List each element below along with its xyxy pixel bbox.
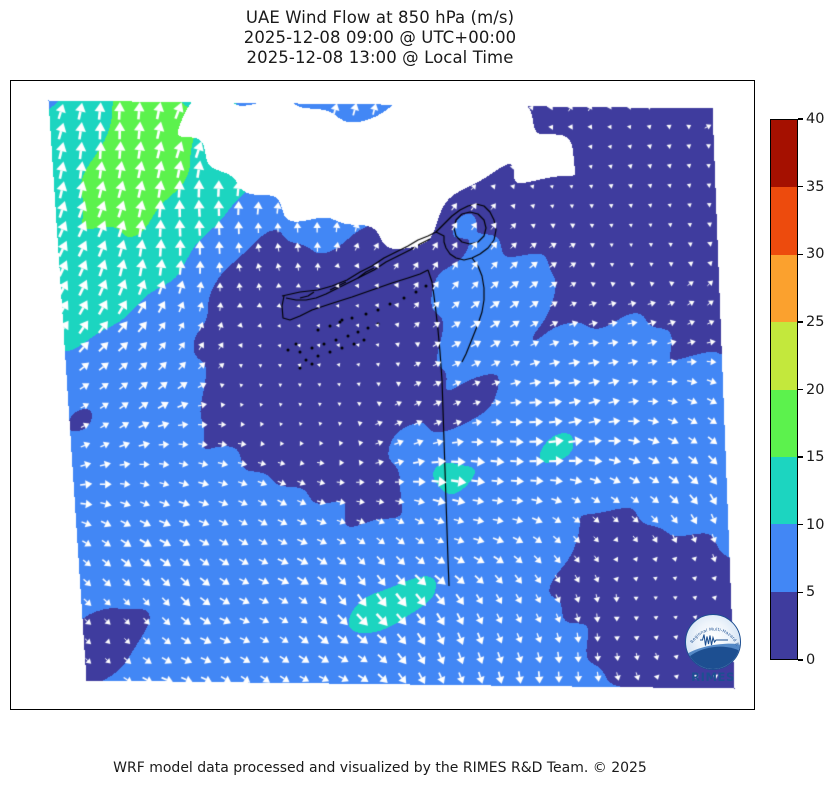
tick-mark: [798, 592, 803, 593]
tick-mark: [798, 186, 803, 187]
tick-mark: [798, 389, 803, 390]
footer-credit: WRF model data processed and visualized …: [0, 760, 760, 776]
colorbar-band-30-35: [771, 187, 797, 254]
title-line-1: UAE Wind Flow at 850 hPa (m/s): [0, 8, 760, 28]
title-line-3: 2025-12-08 13:00 @ Local Time: [0, 48, 760, 68]
tick-mark: [798, 659, 803, 660]
tick-mark: [798, 321, 803, 322]
tick-mark: [798, 524, 803, 525]
tick-mark: [798, 118, 803, 119]
wind-field-map: [11, 81, 754, 709]
tick-label: 25: [806, 313, 824, 331]
tick-label: 30: [806, 245, 824, 263]
tick-label: 10: [806, 516, 824, 534]
colorbar-tick-axis: 0510152025303540: [798, 119, 835, 660]
colorbar-band-15-20: [771, 390, 797, 457]
colorbar-band-10-15: [771, 457, 797, 524]
colorbar-band-20-25: [771, 322, 797, 389]
tick-label: 40: [806, 110, 824, 128]
tick-label: 20: [806, 381, 824, 399]
tick-label: 5: [806, 583, 815, 601]
map-plot-frame: Regional Multi-Hazard Early Warning RIME…: [10, 80, 755, 710]
tick-mark: [798, 456, 803, 457]
colorbar-band-0-5: [771, 592, 797, 659]
tick-label: 15: [806, 448, 824, 466]
tick-label: 0: [806, 651, 815, 669]
colorbar-band-5-10: [771, 524, 797, 591]
title-line-2: 2025-12-08 09:00 @ UTC+00:00: [0, 28, 760, 48]
tick-mark: [798, 254, 803, 255]
colorbar-band-35-40: [771, 120, 797, 187]
colorbar-band-25-30: [771, 255, 797, 322]
tick-label: 35: [806, 178, 824, 196]
chart-title-block: UAE Wind Flow at 850 hPa (m/s) 2025-12-0…: [0, 8, 760, 68]
colorbar: [770, 119, 798, 660]
